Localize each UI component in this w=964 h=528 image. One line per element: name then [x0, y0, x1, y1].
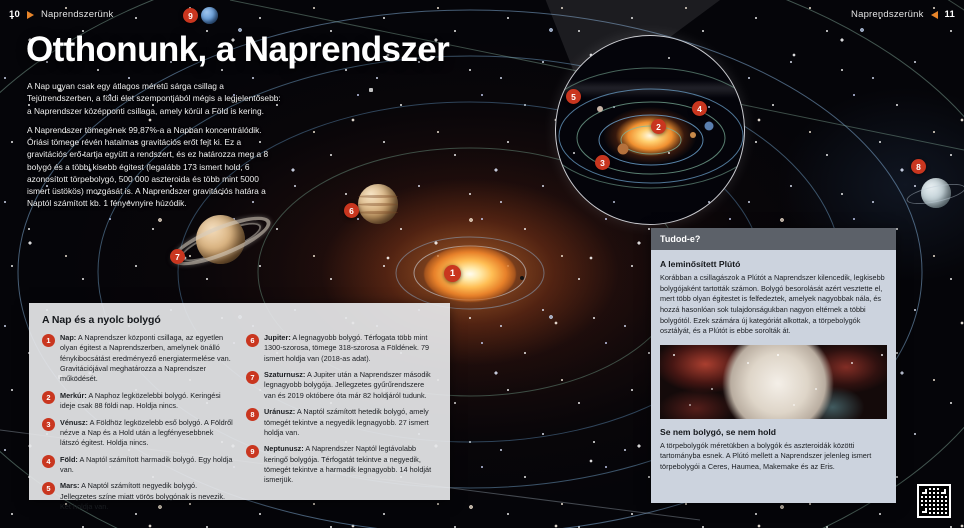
- marker-5-mars[interactable]: 5: [566, 89, 581, 104]
- breadcrumb-left: Naprendszerünk: [41, 9, 114, 20]
- item-desc: A Naprendszer központi csillaga, az egye…: [60, 333, 231, 383]
- chevron-left-icon: [931, 11, 938, 19]
- panel-column-right: 6 Jupiter: A legnagyobb bolygó. Térfogat…: [246, 333, 437, 512]
- item-name: Uránusz:: [264, 407, 295, 416]
- item-text: Szaturnusz: A Jupiter után a Naprendszer…: [264, 370, 437, 401]
- page-number-right: 11: [945, 9, 955, 20]
- bullet-1: 1: [42, 334, 55, 347]
- marker-8-uranus[interactable]: 8: [911, 159, 926, 174]
- item-name: Neptunusz:: [264, 444, 304, 453]
- list-item: 9 Neptunusz: A Naprendszer Naptól legtáv…: [246, 444, 437, 485]
- marker-6-jupiter[interactable]: 6: [344, 203, 359, 218]
- item-name: Nap:: [60, 333, 76, 342]
- marker-7-saturn[interactable]: 7: [170, 249, 185, 264]
- list-item: 8 Uránusz: A Naptól számított hetedik bo…: [246, 407, 437, 438]
- planet-jupiter: [358, 184, 398, 224]
- planets-fact-panel: A Nap és a nyolc bolygó 1 Nap: A Naprend…: [29, 303, 450, 500]
- marker-3-mercury[interactable]: 3: [595, 155, 610, 170]
- did-you-know-panel: Tudod-e? A leminősített Plútó Korábban a…: [651, 228, 896, 503]
- panel-heading: A Nap és a nyolc bolygó: [42, 314, 437, 326]
- list-item: 6 Jupiter: A legnagyobb bolygó. Térfogat…: [246, 333, 437, 364]
- pluto-section-title: A leminősített Plútó: [660, 259, 887, 269]
- chevron-right-icon: [27, 11, 34, 19]
- did-you-know-body: A leminősített Plútó Korábban a csillagá…: [651, 250, 896, 481]
- item-text: Mars: A Naptól számított negyedik bolygó…: [60, 481, 233, 512]
- dwarf-section-title: Se nem bolygó, se nem hold: [660, 427, 887, 437]
- list-item: 1 Nap: A Naprendszer központi csillaga, …: [42, 333, 233, 385]
- intro-paragraph-1: A Nap ugyan csak egy átlagos méretű sárg…: [27, 80, 283, 117]
- bullet-2: 2: [42, 391, 55, 404]
- item-text: Föld: A Naptól számított harmadik bolygó…: [60, 455, 233, 476]
- pluto-photo-stars: [660, 345, 887, 419]
- inner-system-magnifier: [555, 35, 745, 225]
- list-item: 2 Merkúr: A Naphoz legközelebbi bolygó. …: [42, 391, 233, 412]
- list-item: 7 Szaturnusz: A Jupiter után a Naprendsz…: [246, 370, 437, 401]
- item-text: Merkúr: A Naphoz legközelebbi bolygó. Ke…: [60, 391, 233, 412]
- qr-code[interactable]: [917, 484, 951, 518]
- dwarf-section-text: A törpebolygók méretükben a bolygók és a…: [660, 441, 887, 473]
- qr-eye-bottomleft: [920, 506, 929, 515]
- did-you-know-header: Tudod-e?: [651, 228, 896, 250]
- jupiter-band-3: [358, 211, 398, 214]
- magazine-spread: 10 Naprendszerünk Naprendszerünk 11 Otth…: [0, 0, 964, 528]
- item-text: Neptunusz: A Naprendszer Naptól legtávol…: [264, 444, 437, 485]
- qr-eye-topright: [939, 487, 948, 496]
- item-name: Vénusz:: [60, 418, 88, 427]
- intro-text: A Nap ugyan csak egy átlagos méretű sárg…: [27, 80, 283, 210]
- magnifier-orbits: [556, 36, 745, 225]
- bullet-3: 3: [42, 418, 55, 431]
- item-text: Jupiter: A legnagyobb bolygó. Térfogata …: [264, 333, 437, 364]
- item-text: Vénusz: A Földhöz legközelebb eső bolygó…: [60, 418, 233, 449]
- bullet-7: 7: [246, 371, 259, 384]
- item-desc: A Naptól számított harmadik bolygó. Egy …: [60, 455, 232, 474]
- list-item: 5 Mars: A Naptól számított negyedik boly…: [42, 481, 233, 512]
- pluto-section-text: Korábban a csillagászok a Plútót a Napre…: [660, 273, 887, 337]
- item-name: Szaturnusz:: [264, 370, 305, 379]
- item-name: Jupiter:: [264, 333, 291, 342]
- bullet-9: 9: [246, 445, 259, 458]
- page-title: Otthonunk, a Naprendszer: [26, 32, 449, 67]
- item-text: Uránusz: A Naptól számított hetedik boly…: [264, 407, 437, 438]
- list-item: 3 Vénusz: A Földhöz legközelebb eső boly…: [42, 418, 233, 449]
- pluto-photo: [660, 345, 887, 419]
- qr-eye-topleft: [920, 487, 929, 496]
- item-name: Merkúr:: [60, 391, 87, 400]
- bullet-6: 6: [246, 334, 259, 347]
- marker-1-sun[interactable]: 1: [444, 265, 461, 282]
- list-item: 4 Föld: A Naptól számított harmadik boly…: [42, 455, 233, 476]
- planet-neptune: [201, 7, 218, 24]
- marker-9-neptune[interactable]: 9: [183, 8, 198, 23]
- jupiter-band-1: [358, 195, 398, 198]
- intro-paragraph-2: A Naprendszer tömegének 99,87%-a a Napba…: [27, 124, 283, 210]
- marker-4-earth[interactable]: 4: [692, 101, 707, 116]
- panel-column-left: 1 Nap: A Naprendszer központi csillaga, …: [42, 333, 233, 512]
- bullet-5: 5: [42, 482, 55, 495]
- marker-2-venus[interactable]: 2: [651, 119, 666, 134]
- item-desc: A Naptól számított negyedik bolygó. Jell…: [60, 481, 225, 511]
- item-name: Mars:: [60, 481, 79, 490]
- bullet-8: 8: [246, 408, 259, 421]
- breadcrumb-right: Naprendszerünk: [851, 9, 924, 20]
- item-text: Nap: A Naprendszer központi csillaga, az…: [60, 333, 233, 385]
- sun-illustration: [424, 246, 516, 302]
- jupiter-band-2: [358, 203, 398, 206]
- header-right[interactable]: Naprendszerünk 11: [851, 9, 955, 20]
- header-left[interactable]: 10 Naprendszerünk: [9, 9, 113, 20]
- page-number-left: 10: [9, 9, 20, 20]
- item-name: Föld:: [60, 455, 78, 464]
- bullet-4: 4: [42, 455, 55, 468]
